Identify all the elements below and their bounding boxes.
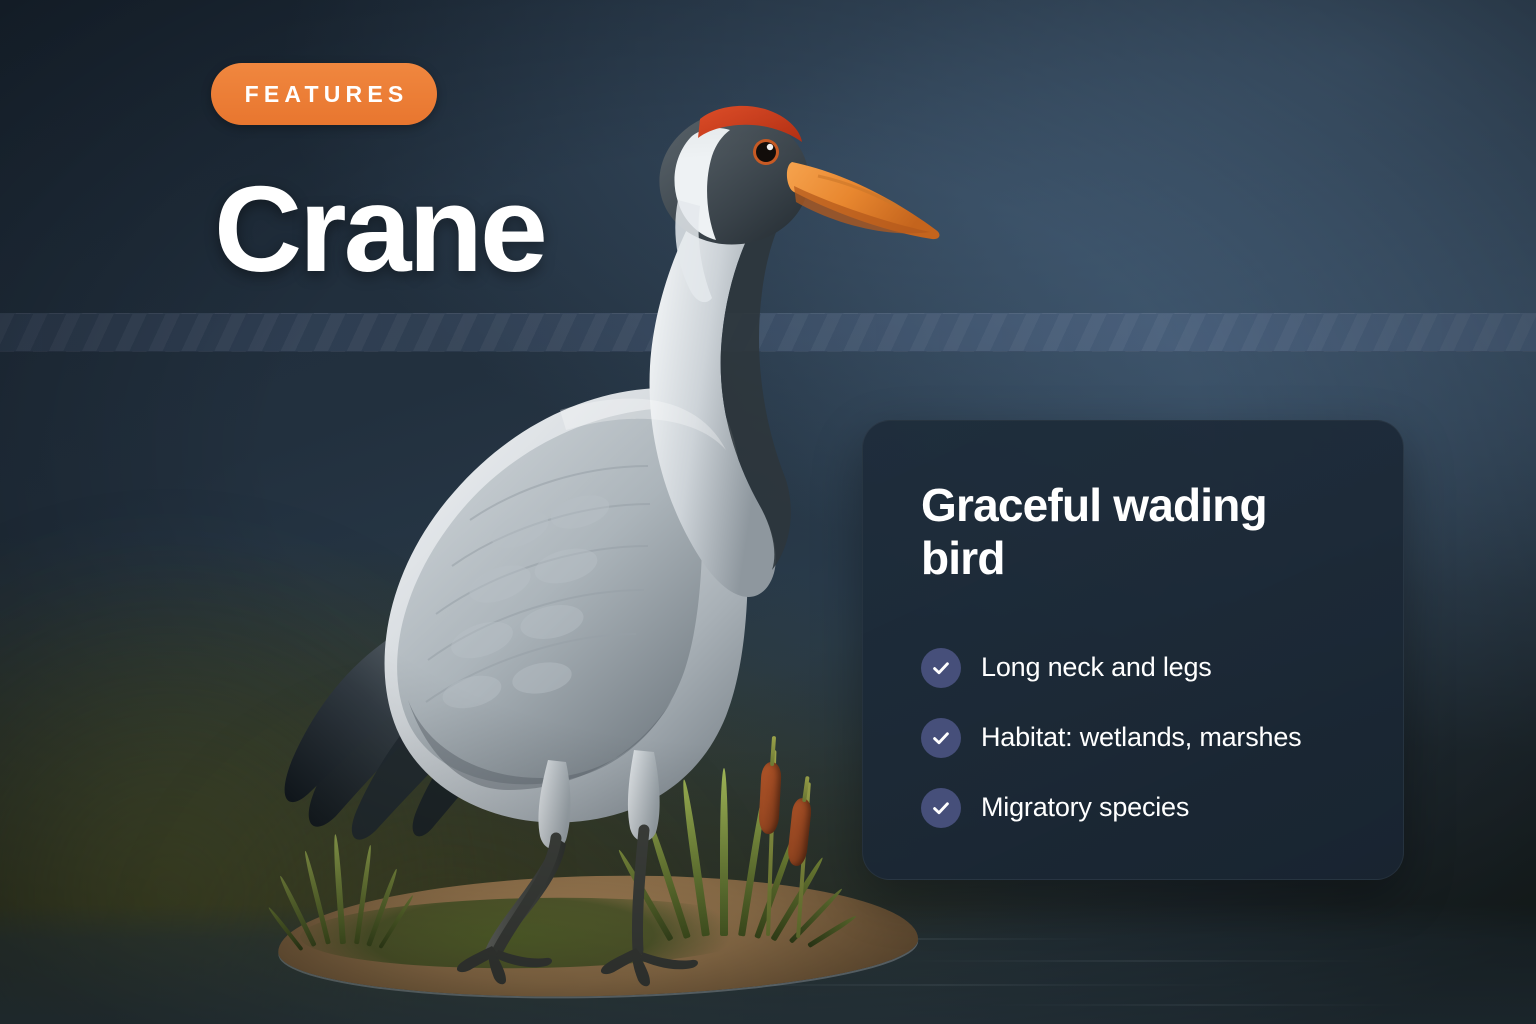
feature-list: Long neck and legs Habitat: wetlands, ma… — [921, 648, 1351, 828]
list-item-label: Habitat: wetlands, marshes — [981, 722, 1301, 753]
list-item[interactable]: Habitat: wetlands, marshes — [921, 718, 1351, 758]
features-badge-label: FEATURES — [240, 81, 409, 108]
feature-slide: FEATURES Crane Graceful wading bird Long… — [0, 0, 1536, 1024]
card-heading: Graceful wading bird — [921, 479, 1341, 586]
check-icon — [921, 718, 961, 758]
info-card: Graceful wading bird Long neck and legs … — [862, 420, 1404, 880]
list-item-label: Long neck and legs — [981, 652, 1212, 683]
page-title: Crane — [214, 168, 545, 290]
list-item[interactable]: Migratory species — [921, 788, 1351, 828]
features-badge[interactable]: FEATURES — [211, 63, 437, 125]
check-icon — [921, 788, 961, 828]
list-item[interactable]: Long neck and legs — [921, 648, 1351, 688]
check-icon — [921, 648, 961, 688]
list-item-label: Migratory species — [981, 792, 1189, 823]
